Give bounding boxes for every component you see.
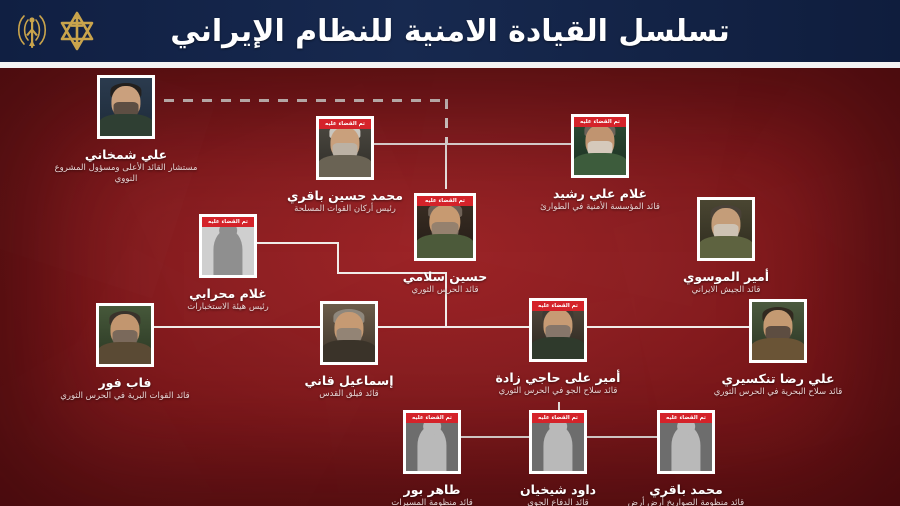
node-shamkhani[interactable]: علي شمخاني مستشار القائد الأعلى ومسؤول ا…: [46, 75, 206, 184]
person-role: قائد سلاح الجو في الحرس الثوري: [478, 386, 638, 397]
portrait-photo: تم القضاء عليه: [571, 114, 629, 178]
photo-wrap: تم القضاء عليه: [403, 410, 461, 474]
person-name: حسين سلامي: [365, 270, 525, 284]
killed-badge: تم القضاء عليه: [529, 300, 587, 311]
photo-wrap: [96, 303, 154, 367]
person-name: إسماعيل قاني: [269, 374, 429, 388]
connector-dashed-shamkhani-v: [445, 99, 448, 145]
killed-badge: تم القضاء عليه: [403, 412, 461, 423]
silhouette-photo: تم القضاء عليه: [199, 214, 257, 278]
photo-wrap: تم القضاء عليه: [657, 410, 715, 474]
killed-badge: تم القضاء عليه: [657, 412, 715, 423]
photo-wrap: تم القضاء عليه: [414, 193, 476, 261]
photo-wrap: تم القضاء عليه: [529, 298, 587, 362]
portrait-photo: [749, 299, 807, 363]
silhouette-photo: تم القضاء عليه: [657, 410, 715, 474]
person-role: قائد فيلق القدس: [269, 389, 429, 400]
killed-badge: تم القضاء عليه: [571, 116, 629, 127]
node-pakpour[interactable]: فاب فور قائد القوات البرية في الحرس الثو…: [45, 303, 205, 402]
photo-wrap: [320, 301, 378, 365]
person-name: محمد باقري: [606, 483, 766, 497]
node-qaani[interactable]: إسماعيل قاني قائد فيلق القدس: [269, 301, 429, 400]
photo-wrap: [97, 75, 155, 139]
node-mousavi[interactable]: أمير الموسوي قائد الجيش الايراني: [646, 197, 806, 296]
portrait-photo: [320, 301, 378, 365]
person-role: قائد القوات البرية في الحرس الثوري: [45, 391, 205, 402]
person-role: قائد سلاح البحرية في الحرس الثوري: [698, 387, 858, 398]
node-bagheri-m[interactable]: تم القضاء عليه محمد باقري قائد منظومة ال…: [606, 410, 766, 506]
portrait-art: [323, 304, 375, 362]
header-bar: تسلسل القيادة الامنية للنظام الإيراني: [0, 0, 900, 62]
photo-wrap: [749, 299, 807, 363]
connector-commands-bar: [125, 326, 777, 328]
person-name: أمير الموسوي: [646, 270, 806, 284]
portrait-photo: تم القضاء عليه: [414, 193, 476, 261]
node-mehrabi[interactable]: تم القضاء عليه غلام محرابي رئيس هيئة الا…: [148, 214, 308, 313]
portrait-photo: [96, 303, 154, 367]
killed-badge: تم القضاء عليه: [529, 412, 587, 423]
silhouette-photo: تم القضاء عليه: [403, 410, 461, 474]
person-name: علي شمخاني: [46, 148, 206, 162]
photo-wrap: تم القضاء عليه: [316, 116, 374, 180]
person-role: قائد الجيش الايراني: [646, 285, 806, 296]
page-title: تسلسل القيادة الامنية للنظام الإيراني: [0, 4, 900, 58]
portrait-photo: تم القضاء عليه: [529, 298, 587, 362]
portrait-art: [752, 302, 804, 360]
killed-badge: تم القضاء عليه: [199, 216, 257, 227]
person-role: مستشار القائد الأعلى ومسؤول المشروع النو…: [46, 163, 206, 184]
silhouette-photo: تم القضاء عليه: [529, 410, 587, 474]
portrait-art: [700, 200, 752, 258]
node-hajizadeh[interactable]: تم القضاء عليه أمير على حاجي زادة قائد س…: [478, 298, 638, 397]
killed-badge: تم القضاء عليه: [414, 195, 476, 206]
person-name: علي رضا تنكسيري: [698, 372, 858, 386]
person-role: قائد منظومة الصواريخ أرض أرض: [606, 498, 766, 506]
portrait-photo: [97, 75, 155, 139]
portrait-art: [100, 78, 152, 136]
portrait-art: [99, 306, 151, 364]
portrait-photo: [697, 197, 755, 261]
person-name: فاب فور: [45, 376, 205, 390]
person-role: قائد الحرس الثوري: [365, 285, 525, 296]
chart-board: علي شمخاني مستشار القائد الأعلى ومسؤول ا…: [0, 68, 900, 506]
killed-badge: تم القضاء عليه: [316, 118, 374, 129]
infographic-root: تسلسل القيادة الامنية للنظام الإيراني: [0, 0, 900, 506]
photo-wrap: تم القضاء عليه: [199, 214, 257, 278]
person-name: غلام محرابي: [148, 287, 308, 301]
header-divider: [0, 62, 900, 68]
node-tangsiri[interactable]: علي رضا تنكسيري قائد سلاح البحرية في الح…: [698, 299, 858, 398]
photo-wrap: تم القضاء عليه: [571, 114, 629, 178]
node-salami[interactable]: تم القضاء عليه حسين سلامي قائد الحرس الث…: [365, 193, 525, 296]
portrait-photo: تم القضاء عليه: [316, 116, 374, 180]
connector-trunk-to-salami: [445, 143, 447, 189]
person-name: أمير على حاجي زادة: [478, 371, 638, 385]
connector-mehrabi-v: [337, 242, 339, 272]
photo-wrap: [697, 197, 755, 261]
photo-wrap: تم القضاء عليه: [529, 410, 587, 474]
